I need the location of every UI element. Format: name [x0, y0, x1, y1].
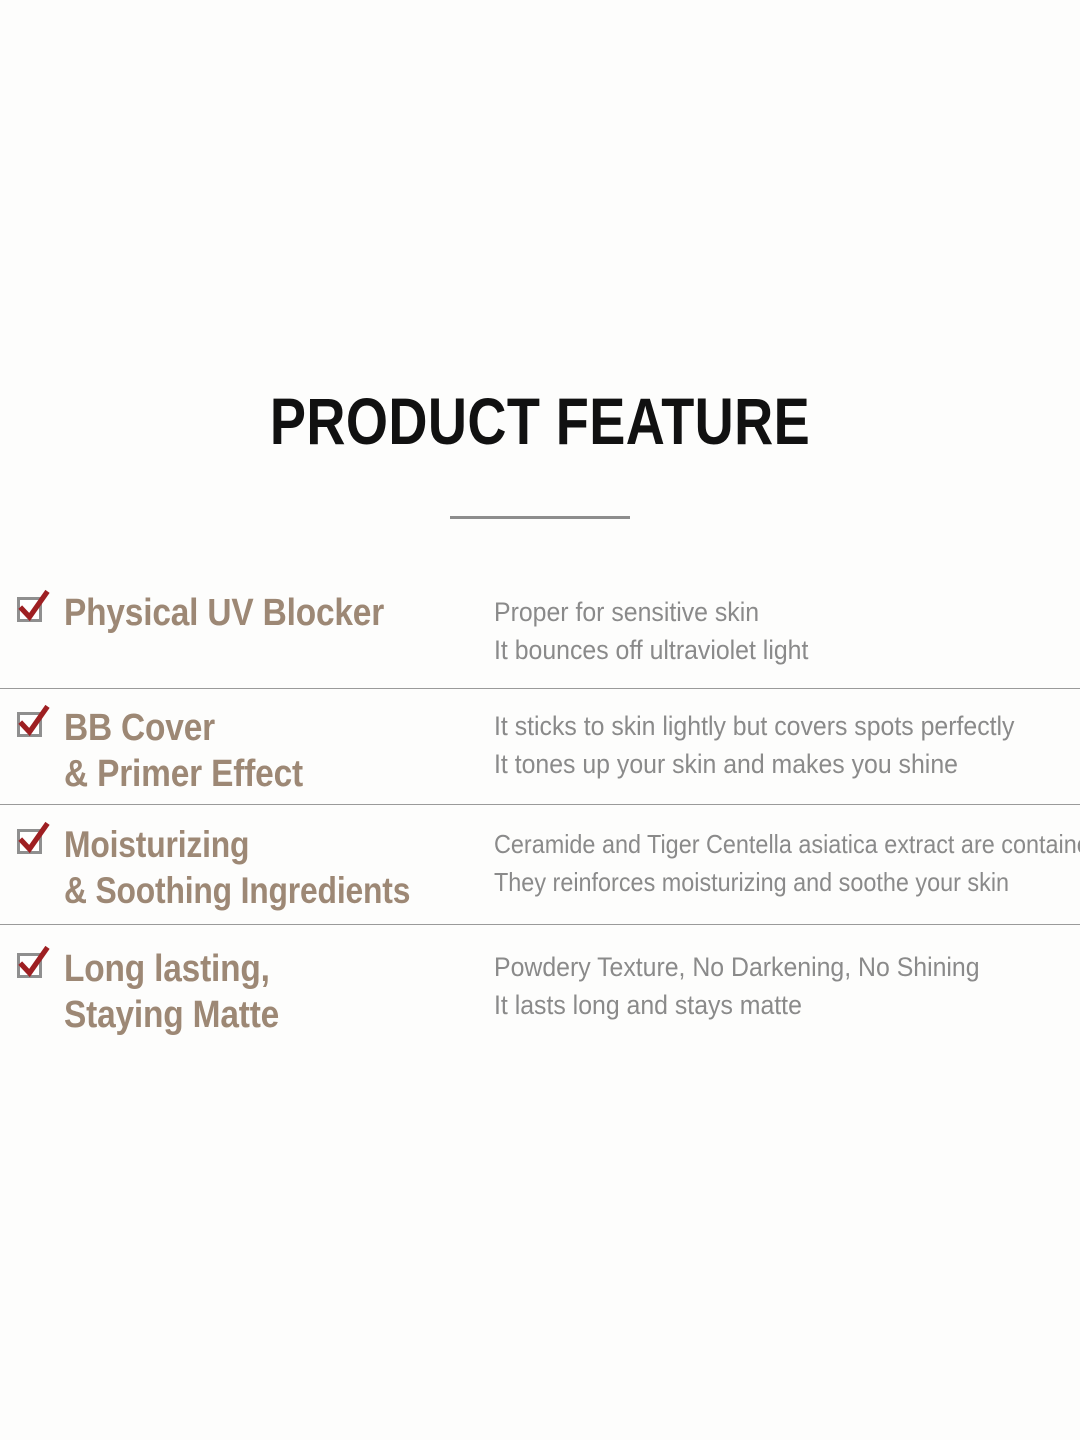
- feature-list: Physical UV Blocker Proper for sensitive…: [0, 586, 1080, 1045]
- feature-description-line: Powdery Texture, No Darkening, No Shinin…: [494, 948, 1080, 986]
- feature-description: Ceramide and Tiger Centella asiatica ext…: [494, 825, 1070, 901]
- feature-description: Proper for sensitive skin It bounces off…: [494, 593, 1080, 669]
- title-accent-rule: [450, 516, 630, 519]
- feature-description-line: It bounces off ultraviolet light: [494, 631, 1080, 669]
- feature-row: BB Cover & Primer Effect It sticks to sk…: [0, 689, 1080, 804]
- feature-row: Moisturizing & Soothing Ingredients Cera…: [0, 805, 1080, 924]
- feature-heading-line: Staying Matte: [64, 992, 442, 1038]
- feature-description-line: Proper for sensitive skin: [494, 593, 1080, 631]
- feature-description-line: They reinforces moisturizing and soothe …: [494, 863, 1070, 901]
- feature-heading: Moisturizing & Soothing Ingredients: [64, 822, 434, 914]
- checkbox-checked-icon: [16, 710, 46, 740]
- feature-heading: Physical UV Blocker: [64, 590, 442, 636]
- feature-description: It sticks to skin lightly but covers spo…: [494, 707, 1080, 783]
- feature-row: Physical UV Blocker Proper for sensitive…: [0, 586, 1080, 688]
- feature-heading-line: Long lasting,: [64, 946, 442, 992]
- feature-row: Long lasting, Staying Matte Powdery Text…: [0, 925, 1080, 1045]
- checkbox-checked-icon: [16, 951, 46, 981]
- feature-heading: Long lasting, Staying Matte: [64, 946, 442, 1038]
- feature-heading-line: BB Cover: [64, 705, 442, 751]
- feature-heading-line: Moisturizing: [64, 822, 434, 868]
- feature-description-line: It tones up your skin and makes you shin…: [494, 745, 1080, 783]
- checkbox-checked-icon: [16, 827, 46, 857]
- checkbox-checked-icon: [16, 595, 46, 625]
- feature-description-line: Ceramide and Tiger Centella asiatica ext…: [494, 825, 1070, 863]
- feature-heading-line: & Primer Effect: [64, 751, 442, 797]
- title-block: PRODUCT FEATURE: [0, 388, 1080, 519]
- feature-description-line: It lasts long and stays matte: [494, 986, 1080, 1024]
- product-feature-page: PRODUCT FEATURE Physical UV Blocker Prop…: [0, 0, 1080, 1440]
- feature-heading-line: & Soothing Ingredients: [64, 868, 434, 914]
- feature-heading-line: Physical UV Blocker: [64, 590, 442, 636]
- feature-heading: BB Cover & Primer Effect: [64, 705, 442, 797]
- feature-description: Powdery Texture, No Darkening, No Shinin…: [494, 948, 1080, 1024]
- feature-description-line: It sticks to skin lightly but covers spo…: [494, 707, 1080, 745]
- page-title: PRODUCT FEATURE: [97, 388, 983, 454]
